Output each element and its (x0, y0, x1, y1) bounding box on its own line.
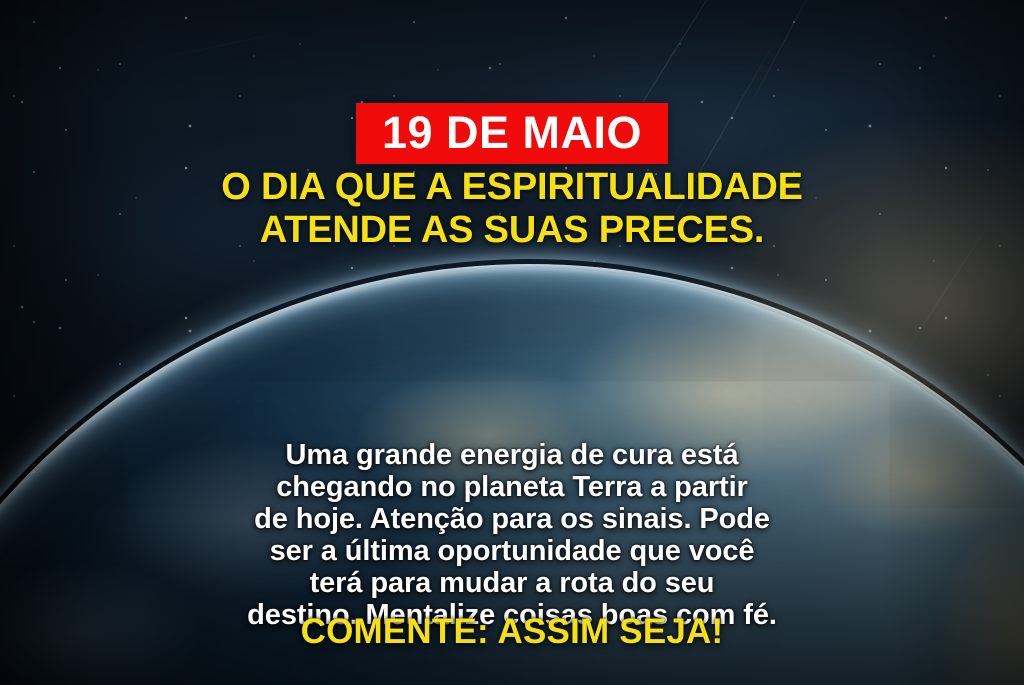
headline-line-2: ATENDE AS SUAS PRECES. (40, 209, 984, 252)
poster-content: 19 DE MAIO O DIA QUE A ESPIRITUALIDADE A… (0, 0, 1024, 685)
body-line-5: terá para mudar a rota do seu (28, 569, 996, 598)
body-line-3: de hoje. Atenção para os sinais. Pode (28, 505, 996, 534)
body-line-2: chegando no planeta Terra a partir (28, 473, 996, 502)
call-to-action-label: COMENTE: ASSIM SEJA! (301, 612, 724, 651)
body-line-4: ser a última oportunidade que você (28, 537, 996, 566)
body-copy: Uma grande energia de cura está chegando… (0, 441, 1024, 633)
call-to-action: COMENTE: ASSIM SEJA! (0, 612, 1024, 652)
headline-line-1: O DIA QUE A ESPIRITUALIDADE (40, 166, 984, 209)
poster-canvas: 19 DE MAIO O DIA QUE A ESPIRITUALIDADE A… (0, 0, 1024, 685)
date-badge-label: 19 DE MAIO (382, 110, 642, 155)
date-badge: 19 DE MAIO (356, 103, 668, 164)
headline: O DIA QUE A ESPIRITUALIDADE ATENDE AS SU… (0, 166, 1024, 253)
body-line-1: Uma grande energia de cura está (28, 441, 996, 470)
